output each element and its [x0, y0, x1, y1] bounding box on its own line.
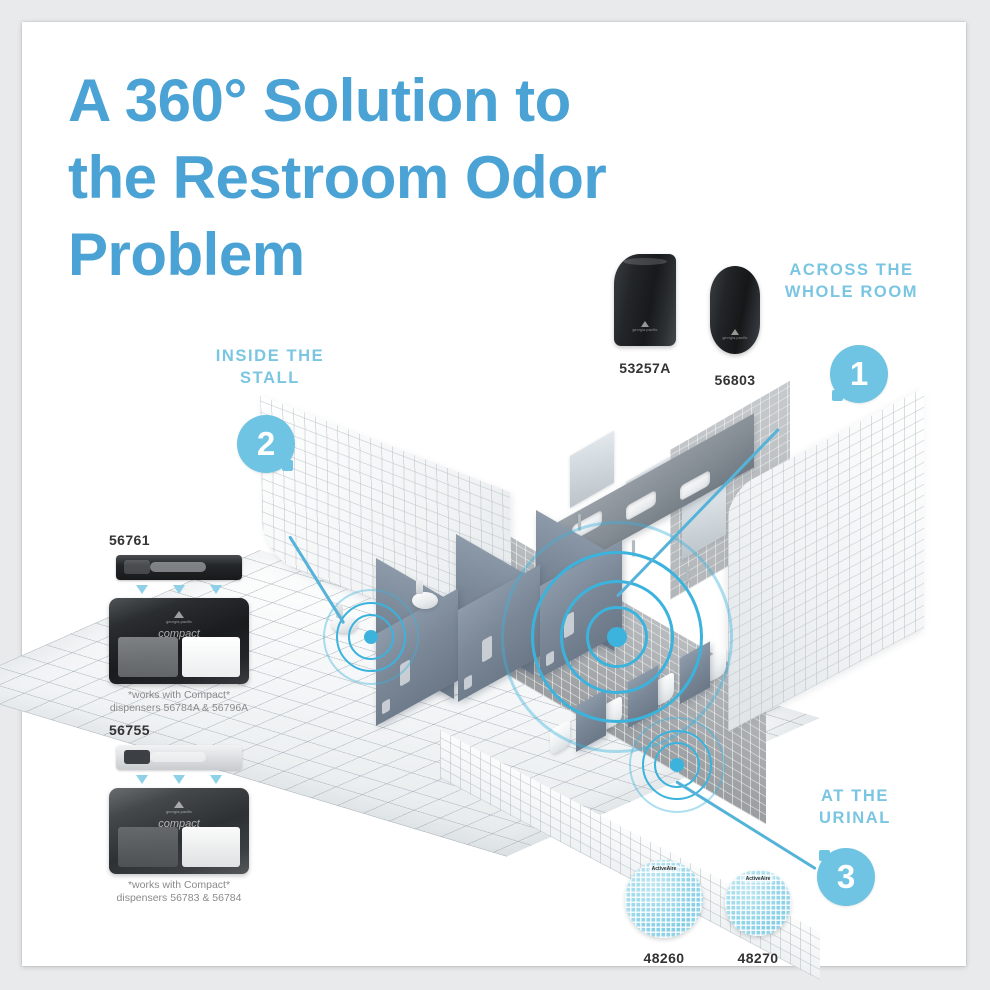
product-code-48260: 48260: [617, 950, 711, 966]
callout-label-3: AT THE URINAL: [770, 785, 940, 829]
install-arrows: [123, 585, 235, 594]
georgia-pacific-logo-icon: georgia-pacific: [710, 329, 760, 340]
dispenser-56803-image: georgia-pacific: [710, 266, 760, 354]
down-arrow-icon: [173, 775, 185, 784]
product-56761[interactable]: 56761 georgia-pacific compact: [95, 532, 263, 715]
product-code-56761: 56761: [109, 532, 263, 548]
callout-3-line-1: AT THE: [770, 785, 940, 807]
urinal-screen-48270-image: ActiveAire: [725, 870, 791, 936]
callout-2-line-1: INSIDE THE: [180, 345, 360, 367]
down-arrow-icon: [136, 775, 148, 784]
georgia-pacific-logo-icon: georgia-pacific: [109, 611, 249, 624]
callout-badge-3-number: 3: [837, 858, 855, 896]
callout-badge-2-number: 2: [257, 425, 275, 463]
lid-chip: [124, 560, 150, 574]
callout-badge-3[interactable]: 3: [817, 848, 875, 906]
page-background: A 360° Solution to the Restroom Odor Pro…: [0, 0, 990, 990]
note-line-2: dispensers 56784A & 56796A: [95, 702, 263, 715]
content-card: A 360° Solution to the Restroom Odor Pro…: [22, 22, 966, 966]
product-note-56755: *works with Compact* dispensers 56783 & …: [95, 879, 263, 905]
note-line-1: *works with Compact*: [95, 689, 263, 702]
product-48260[interactable]: ActiveAire 48260: [617, 860, 711, 966]
note-line-1: *works with Compact*: [95, 879, 263, 892]
product-56755[interactable]: 56755 georgia-pacific compact: [95, 722, 263, 905]
callout-badge-1-number: 1: [850, 355, 868, 393]
ripple-at-urinal: [630, 718, 724, 812]
callout-1-line-2: WHOLE ROOM: [759, 281, 944, 303]
product-48270[interactable]: ActiveAire 48270: [714, 870, 802, 966]
georgia-pacific-logo-icon: georgia-pacific: [109, 801, 249, 814]
note-line-2: dispensers 56783 & 56784: [95, 892, 263, 905]
dispenser-56755-image: georgia-pacific compact: [109, 745, 249, 874]
product-53257a[interactable]: georgia-pacific 53257A: [602, 254, 688, 376]
down-arrow-icon: [210, 585, 222, 594]
down-arrow-icon: [136, 585, 148, 594]
title-line-1: A 360° Solution to: [68, 62, 728, 139]
refill-lid: [116, 555, 242, 580]
product-code-48270: 48270: [714, 950, 802, 966]
lid-slot: [150, 562, 206, 572]
callout-label-2: INSIDE THE STALL: [180, 345, 360, 389]
down-arrow-icon: [210, 775, 222, 784]
install-arrows: [123, 775, 235, 784]
brand-word: georgia-pacific: [722, 336, 747, 340]
lid-slot: [150, 752, 206, 762]
callout-1-line-1: ACROSS THE: [759, 259, 944, 281]
ripple-inside-stall: [324, 590, 418, 684]
urinal-screen-48260-image: ActiveAire: [625, 860, 703, 938]
tissue-window-left: [118, 827, 178, 867]
dispenser-body: georgia-pacific compact: [109, 598, 249, 684]
product-code-53257a: 53257A: [602, 360, 688, 376]
callout-2-line-2: STALL: [180, 367, 360, 389]
callout-3-line-2: URINAL: [770, 807, 940, 829]
georgia-pacific-logo-icon: georgia-pacific: [614, 321, 676, 332]
tissue-window-right: [182, 637, 240, 677]
brand-word: georgia-pacific: [166, 619, 192, 624]
product-code-56803: 56803: [695, 372, 775, 388]
tissue-window-right: [182, 827, 240, 867]
lid-chip: [124, 750, 150, 764]
product-note-56761: *works with Compact* dispensers 56784A &…: [95, 689, 263, 715]
brand-word: georgia-pacific: [166, 809, 192, 814]
brand-word: georgia-pacific: [632, 328, 657, 332]
dispenser-53257a-image: georgia-pacific: [614, 254, 676, 346]
callout-badge-2[interactable]: 2: [237, 415, 295, 473]
tissue-window-left: [118, 637, 178, 677]
sink-basin: [626, 490, 656, 522]
down-arrow-icon: [173, 585, 185, 594]
callout-badge-1[interactable]: 1: [830, 345, 888, 403]
screen-brand-tab: ActiveAire: [743, 875, 774, 883]
title-line-2: the Restroom Odor: [68, 139, 728, 216]
product-56803[interactable]: georgia-pacific 56803: [695, 266, 775, 388]
refill-lid: [116, 745, 242, 770]
callout-label-1: ACROSS THE WHOLE ROOM: [759, 259, 944, 303]
product-code-56755: 56755: [109, 722, 263, 738]
restroom-scene-illustration: [240, 430, 910, 950]
dispenser-56761-image: georgia-pacific compact: [109, 555, 249, 684]
dispenser-body: georgia-pacific compact: [109, 788, 249, 874]
screen-brand-tab: ActiveAire: [649, 865, 680, 873]
